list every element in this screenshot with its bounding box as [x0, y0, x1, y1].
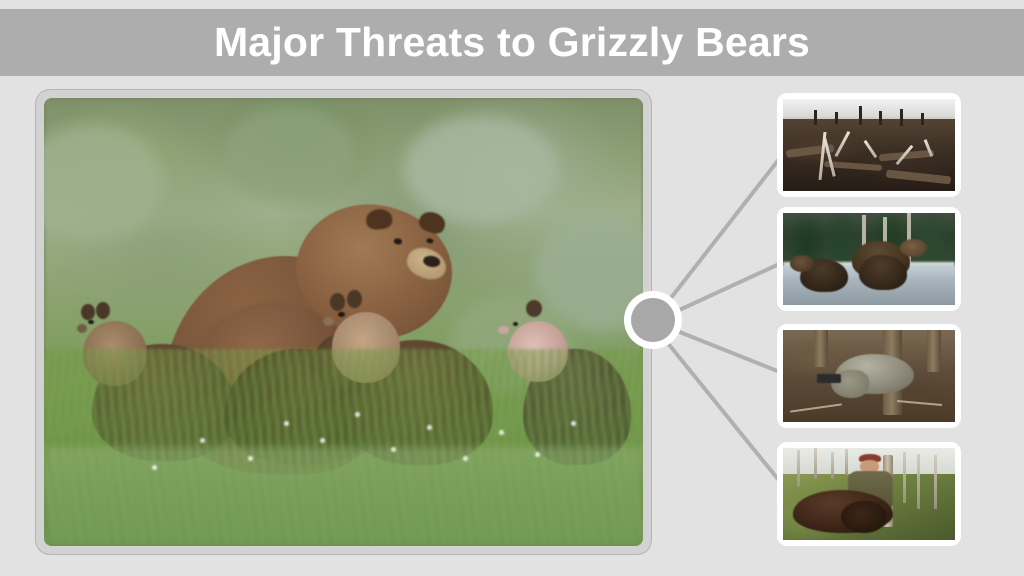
road-collision-thumbnail[interactable]: [777, 207, 961, 311]
tree-stump: [859, 106, 862, 124]
burnt-snag: [917, 454, 920, 509]
hunter-with-dead-bear-image: [783, 448, 955, 540]
leg-hold-trap: [817, 374, 841, 383]
connector-to-thumb-3: [662, 325, 790, 376]
burnt-snag: [903, 452, 906, 504]
burnt-snag: [814, 448, 817, 479]
hunting-poaching-thumbnail[interactable]: [777, 442, 961, 546]
connector-to-thumb-4: [658, 331, 790, 494]
tree-trunk: [814, 330, 828, 367]
tree-stump: [900, 109, 903, 126]
hub-core-circle: [631, 298, 675, 342]
tree-stump: [879, 111, 882, 125]
burnt-snag: [797, 450, 800, 487]
tree-stump: [835, 112, 838, 124]
dead-bear-head: [841, 501, 886, 532]
tree-stump: [814, 110, 817, 125]
trapping-thumbnail[interactable]: [777, 324, 961, 428]
bear-cub-head: [790, 255, 814, 272]
tree-trunk: [927, 330, 941, 372]
bear-cub: [859, 255, 907, 290]
habitat-loss-thumbnail[interactable]: [777, 93, 961, 197]
tree-stump: [921, 113, 924, 125]
burnt-snag: [845, 449, 848, 475]
dead-bear-on-ground-image: [783, 330, 955, 422]
diagram-hub-node[interactable]: [624, 291, 682, 349]
bears-on-road-image: [783, 213, 955, 305]
burnt-snag: [934, 455, 937, 508]
connector-to-thumb-2: [662, 259, 790, 318]
burnt-snag: [831, 452, 834, 480]
clearcut-forest-image: [783, 99, 955, 191]
slide-canvas: Major Threats to Grizzly Bears: [0, 0, 1024, 576]
